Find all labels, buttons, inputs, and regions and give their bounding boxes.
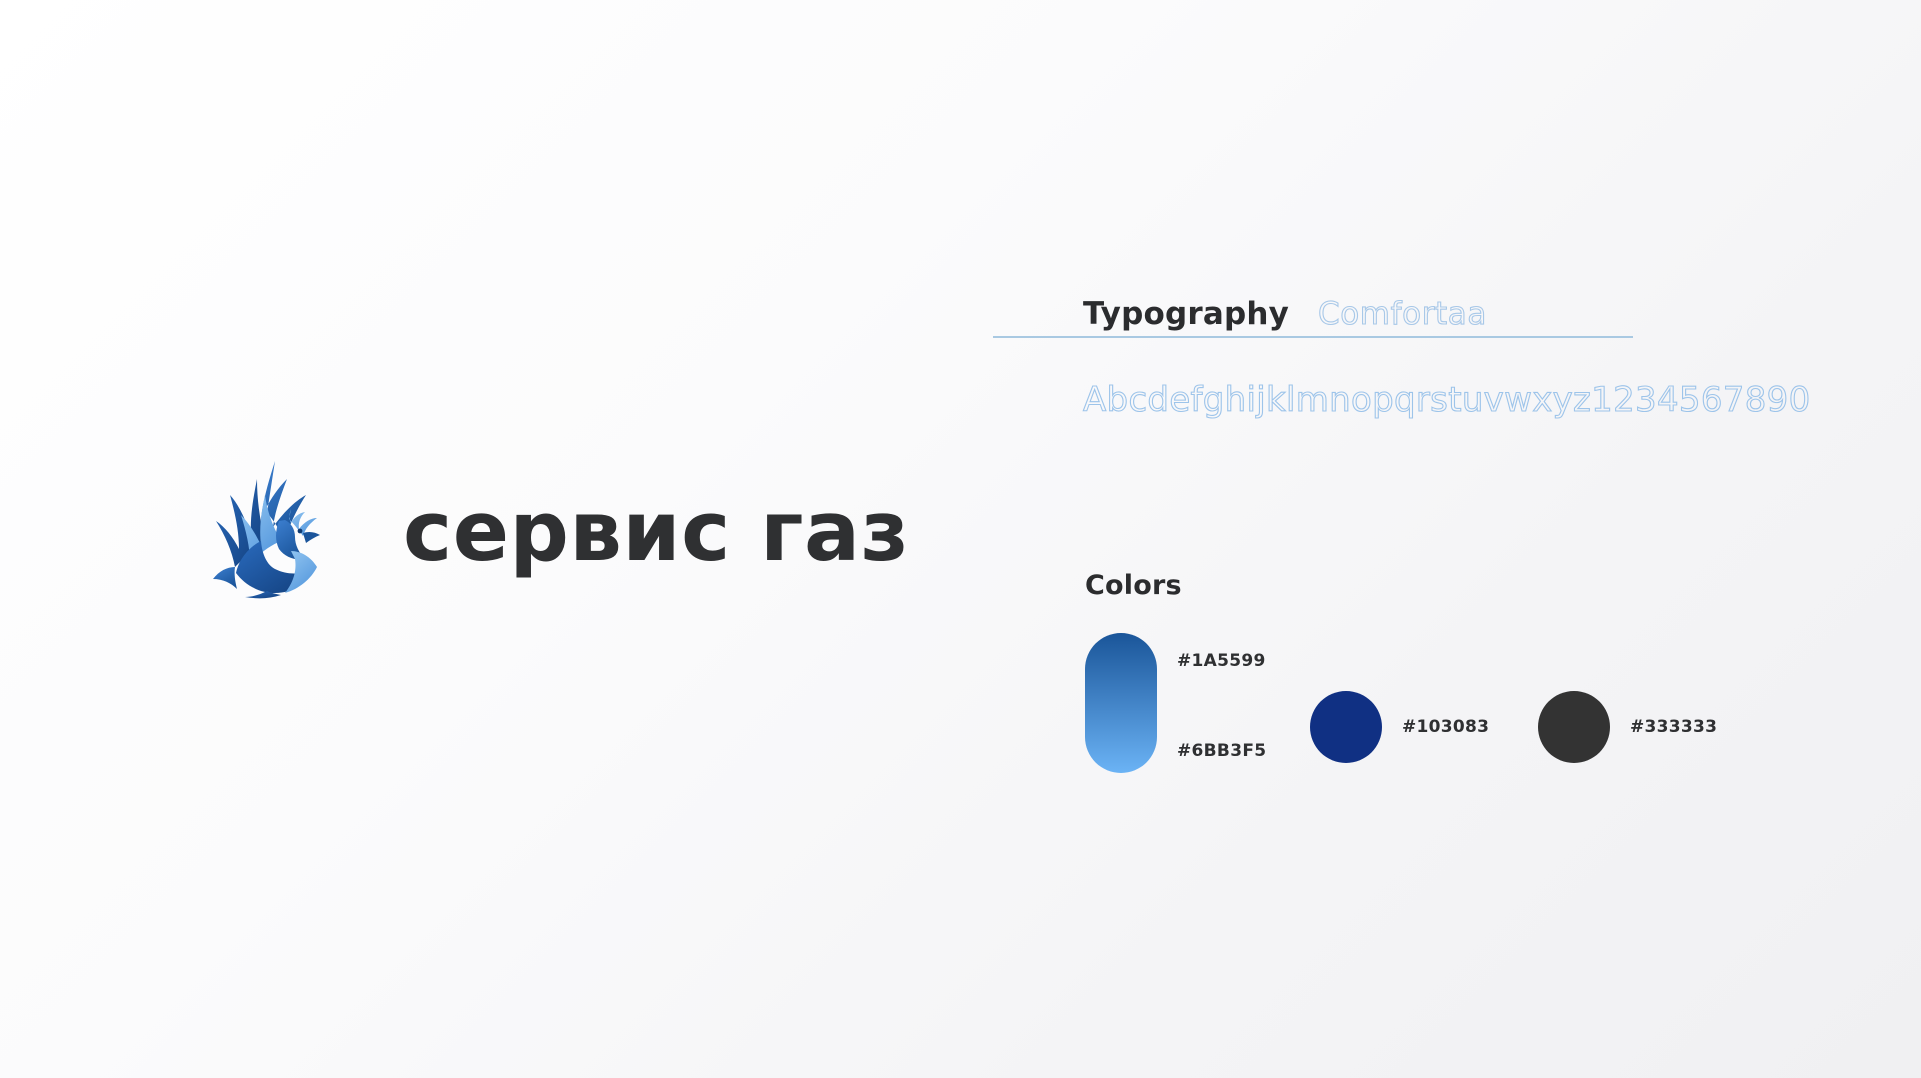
color-swatch-row: #1A5599 #6BB3F5 #103083 #333333: [1085, 633, 1182, 823]
hex-label-navy: #103083: [1402, 717, 1489, 737]
colors-section: Colors #1A5599 #6BB3F5 #103083 #333333: [1085, 570, 1182, 823]
phoenix-firebird-mark: [205, 455, 325, 600]
typeface-name-label: Comfortaa: [1318, 296, 1487, 332]
typography-section: Typography Comfortaa Abcdefghijklmnopqrs…: [993, 286, 1633, 420]
colors-heading: Colors: [1085, 570, 1182, 601]
navy-circle-shape: [1310, 691, 1382, 763]
logo-wordmark: сервис газ: [403, 490, 909, 573]
charcoal-circle-shape: [1538, 691, 1610, 763]
swatch-primary-gradient: #1A5599 #6BB3F5: [1085, 633, 1157, 773]
swatch-navy: #103083: [1310, 691, 1489, 763]
swatch-charcoal: #333333: [1538, 691, 1717, 763]
hex-label-gradient-top: #1A5599: [1177, 651, 1266, 671]
typography-header-row: Typography Comfortaa: [993, 286, 1633, 334]
hex-label-gradient-bottom: #6BB3F5: [1177, 741, 1266, 761]
brand-style-guide-canvas: сервис газ Typography Comfortaa Abcdefgh…: [0, 0, 1921, 1078]
hex-label-charcoal: #333333: [1630, 717, 1717, 737]
gradient-hex-labels: #1A5599 #6BB3F5: [1177, 633, 1266, 773]
typography-heading: Typography: [1083, 296, 1289, 332]
typography-divider: [993, 336, 1633, 338]
logo-lockup: сервис газ: [205, 455, 909, 600]
gradient-pill-shape: [1085, 633, 1157, 773]
alphabet-specimen: Abcdefghijklmnopqrstuvwxyz1234567890: [1083, 380, 1633, 420]
